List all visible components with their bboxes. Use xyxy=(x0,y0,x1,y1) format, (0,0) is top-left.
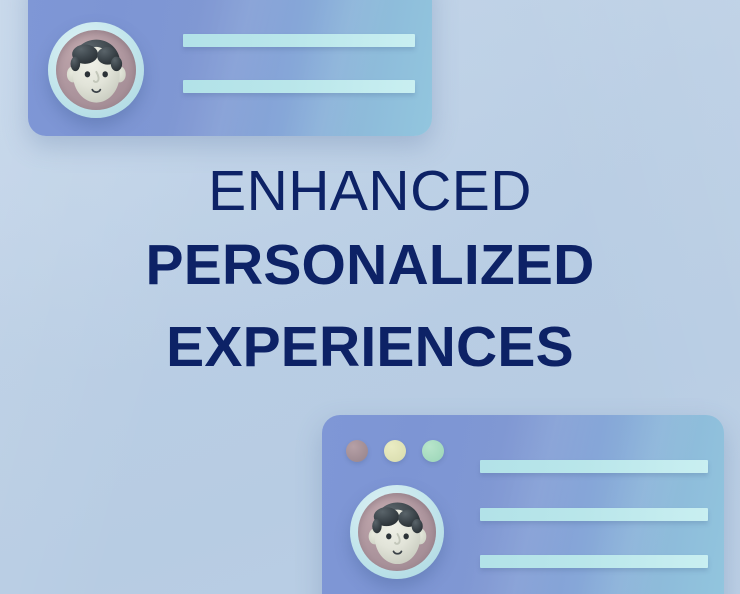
text-line-bar xyxy=(183,80,415,93)
text-line-bar xyxy=(480,508,708,521)
text-line-bar xyxy=(480,555,708,568)
avatar-face-icon xyxy=(56,30,137,111)
avatar-disc xyxy=(56,30,137,111)
headline: ENHANCED PERSONALIZED EXPERIENCES xyxy=(0,160,740,388)
avatar xyxy=(350,485,444,579)
profile-card-top[interactable] xyxy=(28,0,432,136)
profile-card-bottom[interactable] xyxy=(322,415,724,594)
text-line-bar xyxy=(480,460,708,473)
window-dot-maximize-icon[interactable] xyxy=(422,440,444,462)
avatar-face-icon xyxy=(358,493,437,572)
window-dot-close-icon[interactable] xyxy=(346,440,368,462)
headline-line-1: ENHANCED xyxy=(0,160,740,224)
avatar-disc xyxy=(358,493,437,572)
slide-canvas: ENHANCED PERSONALIZED EXPERIENCES xyxy=(0,0,740,594)
window-dot-minimize-icon[interactable] xyxy=(384,440,406,462)
headline-line-2: PERSONALIZED xyxy=(0,224,740,306)
window-controls xyxy=(346,440,444,462)
avatar xyxy=(48,22,144,118)
text-line-bar xyxy=(183,34,415,47)
headline-line-3: EXPERIENCES xyxy=(0,306,740,388)
